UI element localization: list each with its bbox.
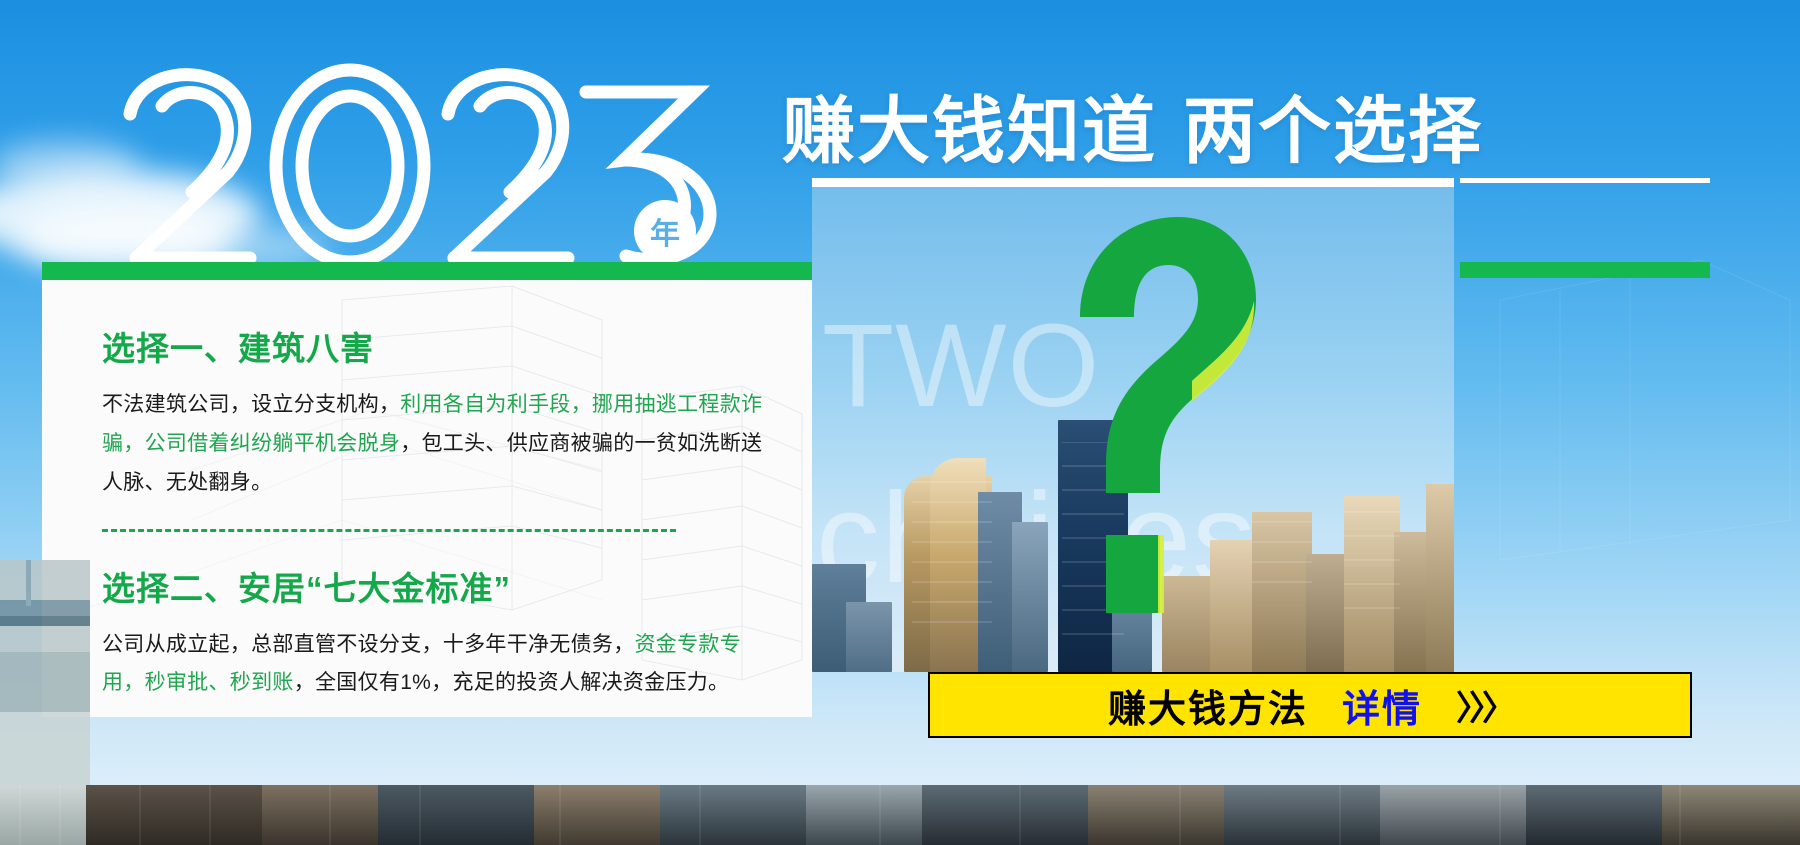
city-photo-panel: TWO choices — [812, 182, 1454, 672]
page-title: 赚大钱知道两个选择 — [782, 72, 1483, 178]
headline-left: 赚大钱知道 — [782, 91, 1157, 172]
reflection-texture — [0, 785, 1800, 845]
section-2-body: 公司从成立起，总部直管不设分支，十多年干净无债务，资金专款专用，秒审批、秒到账，… — [102, 626, 772, 704]
cta-detail-link[interactable]: 详情 — [1342, 678, 1422, 733]
section-1-body: 不法建筑公司，设立分支机构，利用各自为利手段，挪用抽逃工程款诈骗，公司借着纠纷躺… — [102, 386, 772, 503]
green-accent-bar-right — [1460, 262, 1710, 278]
headline-right: 两个选择 — [1183, 91, 1483, 172]
chevron-right-icon: 〉〉〉 — [1456, 681, 1512, 730]
section-1-title: 选择一、建筑八害 — [102, 322, 772, 370]
promo-poster: 年 赚大钱知道两个选择 TWO choices — [0, 0, 1800, 845]
text-run: 公司从成立起，总部直管不设分支，十多年干净无债务， — [102, 633, 635, 656]
cta-banner[interactable]: 赚大钱方法 详情 〉〉〉 — [928, 672, 1692, 738]
text-run: 不法建筑公司，设立分支机构， — [102, 393, 400, 416]
section-2-title: 选择二、安居“七大金标准” — [102, 562, 772, 610]
cta-main-label: 赚大钱方法 — [1108, 678, 1308, 733]
year-unit-label: 年 — [650, 209, 680, 253]
card-top-green-bar — [42, 262, 812, 280]
bridge-photo-hint — [0, 560, 90, 785]
bottom-photo-strip — [0, 785, 1800, 845]
text-run: ，全国仅有1%，充足的投资人解决资金压力。 — [294, 671, 730, 694]
section-divider — [102, 529, 676, 532]
content-card: 选择一、建筑八害 不法建筑公司，设立分支机构，利用各自为利手段，挪用抽逃工程款诈… — [42, 280, 812, 717]
panel-top-rule-right — [1460, 178, 1710, 183]
year-unit-badge: 年 — [634, 200, 696, 262]
question-mark-icon — [1040, 209, 1260, 629]
